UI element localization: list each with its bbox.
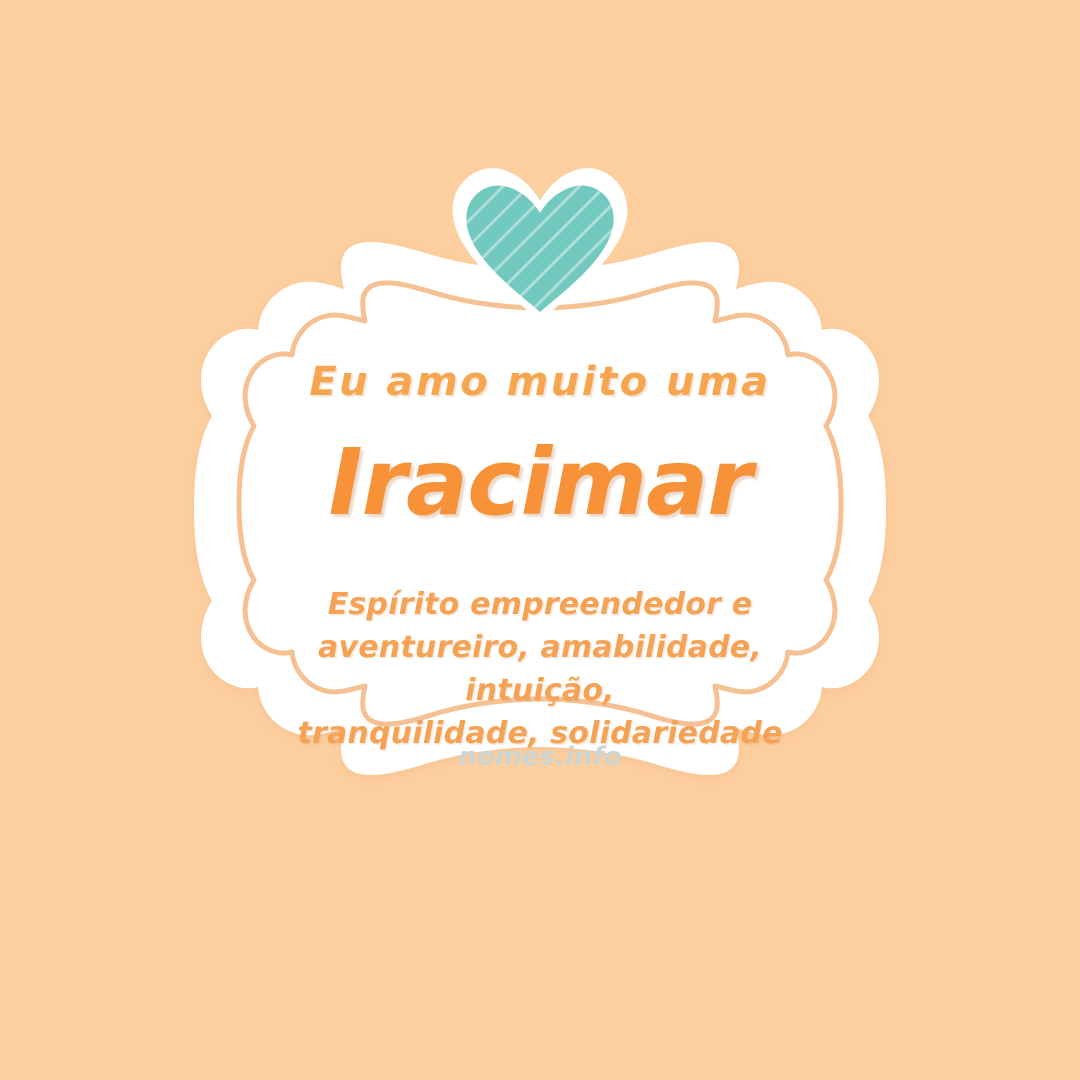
ornate-frame	[194, 242, 886, 775]
name-greeting-card: Eu amo muito uma Iracimar Espírito empre…	[0, 0, 1080, 1080]
card-artwork	[0, 0, 1080, 1080]
